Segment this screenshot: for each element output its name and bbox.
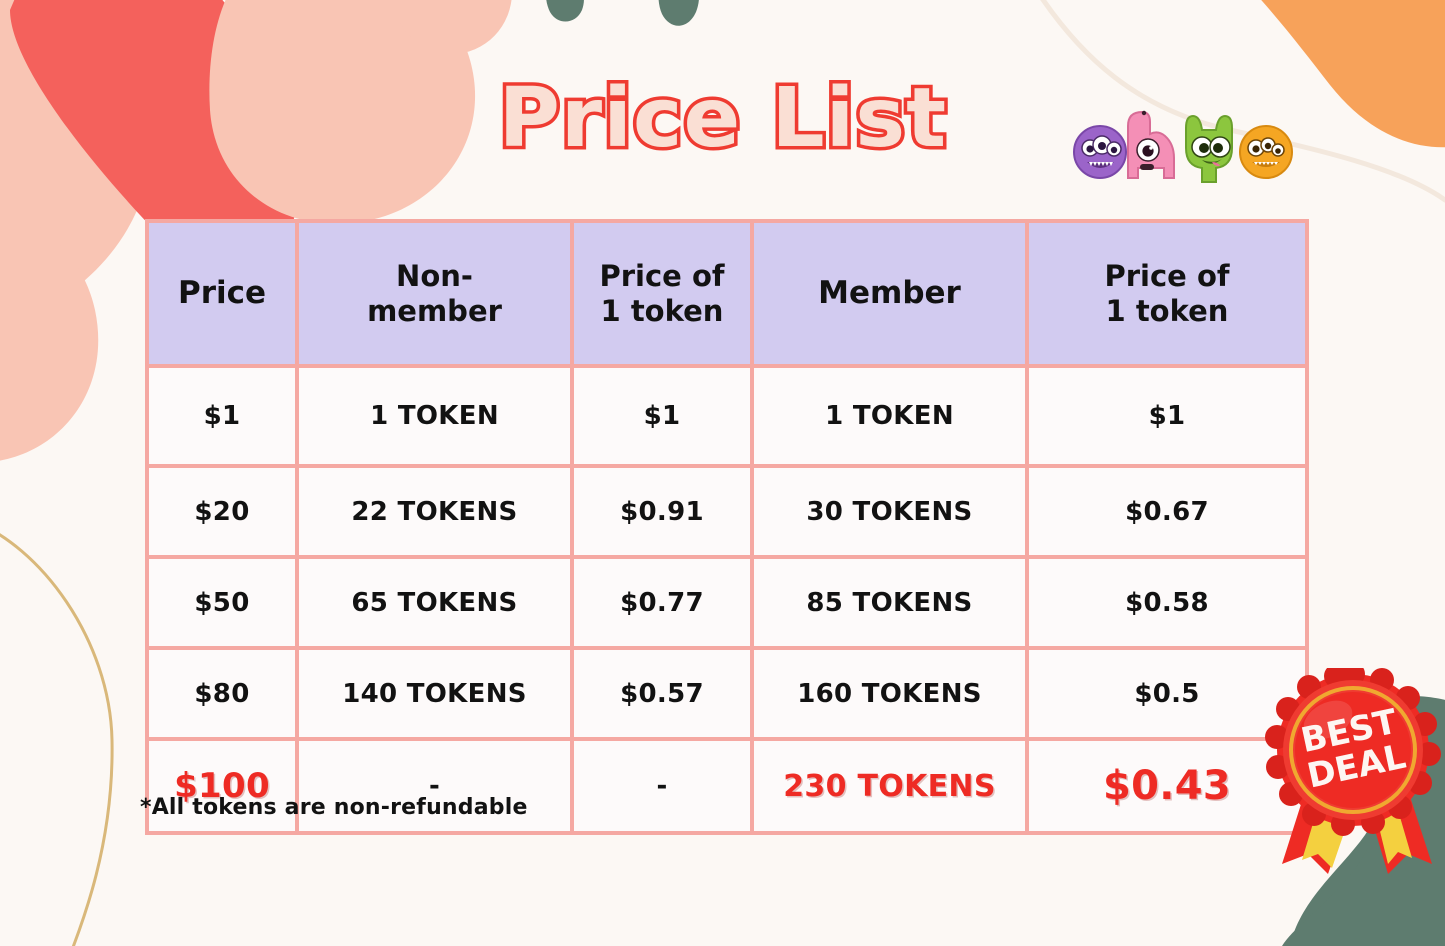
pink-monster-b-icon [1128, 111, 1174, 178]
cell-nonmember-tokens: 140 TOKENS [297, 648, 572, 739]
column-header-nonmember: Non- member [297, 221, 572, 366]
column-header-p1b-line1: Price of [1105, 259, 1230, 293]
cell-nonmember-price-per-token: $0.57 [572, 648, 752, 739]
column-header-member-line1: Member [818, 275, 961, 311]
table-row: $1 1 TOKEN $1 1 TOKEN $1 [147, 366, 1307, 466]
cell-member-tokens: 160 TOKENS [752, 648, 1027, 739]
table-header-row: Price Non- member Price of 1 token Membe… [147, 221, 1307, 366]
cell-price: $1 [147, 366, 297, 466]
blob-pink-midleft [0, 199, 98, 463]
blob-pink-circle [392, 0, 512, 54]
cell-member-tokens: 1 TOKEN [752, 366, 1027, 466]
column-header-price: Price [147, 221, 297, 366]
cell-nonmember-tokens: 65 TOKENS [297, 557, 572, 648]
obyo-monster-logo[interactable] [1072, 104, 1294, 186]
orange-monster-o-icon [1240, 126, 1292, 178]
table-row: $20 22 TOKENS $0.91 30 TOKENS $0.67 [147, 466, 1307, 557]
line-gold-curve [0, 520, 112, 946]
price-list-poster: Price List [0, 0, 1445, 946]
column-header-nonmember-line2: member [367, 294, 502, 328]
leaf-green-right [658, 0, 699, 26]
cell-price: $20 [147, 466, 297, 557]
cell-member-tokens: 30 TOKENS [752, 466, 1027, 557]
best-deal-badge: BEST DEAL [1262, 668, 1445, 883]
column-header-price-of-1-token-member: Price of 1 token [1027, 221, 1307, 366]
column-header-p1a-line1: Price of [600, 259, 725, 293]
table-row: $80 140 TOKENS $0.57 160 TOKENS $0.5 [147, 648, 1307, 739]
leaf-green-left [546, 0, 584, 22]
table-row: $50 65 TOKENS $0.77 85 TOKENS $0.58 [147, 557, 1307, 648]
purple-monster-o-icon [1074, 126, 1126, 178]
column-header-nonmember-line1: Non- [396, 259, 473, 293]
column-header-p1a-line2: 1 token [601, 294, 724, 328]
cell-member-price-per-token: $0.58 [1027, 557, 1307, 648]
cell-nonmember-price-per-token: $0.91 [572, 466, 752, 557]
cell-nonmember-price-per-token: $1 [572, 366, 752, 466]
table-header: Price Non- member Price of 1 token Membe… [147, 221, 1307, 366]
column-header-price-line1: Price [178, 275, 266, 311]
cell-nonmember-tokens: 22 TOKENS [297, 466, 572, 557]
cell-nonmember-price-per-token: $0.77 [572, 557, 752, 648]
cell-nonmember-tokens: 1 TOKEN [297, 366, 572, 466]
green-monster-y-icon [1186, 116, 1232, 182]
price-table: Price Non- member Price of 1 token Membe… [145, 219, 1309, 835]
page-title-text: Price List [498, 78, 947, 160]
cell-member-price-per-token: $1 [1027, 366, 1307, 466]
column-header-member: Member [752, 221, 1027, 366]
cell-nonmember-price-per-token: - [572, 739, 752, 833]
blob-pink-topleft [0, 0, 151, 325]
table-body: $1 1 TOKEN $1 1 TOKEN $1 $20 22 TOKENS $… [147, 366, 1307, 833]
cell-member-tokens: 85 TOKENS [752, 557, 1027, 648]
cell-price: $50 [147, 557, 297, 648]
cell-price: $80 [147, 648, 297, 739]
column-header-price-of-1-token-nonmember: Price of 1 token [572, 221, 752, 366]
footnote-text: *All tokens are non-refundable [140, 795, 528, 820]
column-header-p1b-line2: 1 token [1106, 294, 1229, 328]
cell-member-tokens: 230 TOKENS [752, 739, 1027, 833]
cell-member-price-per-token: $0.67 [1027, 466, 1307, 557]
